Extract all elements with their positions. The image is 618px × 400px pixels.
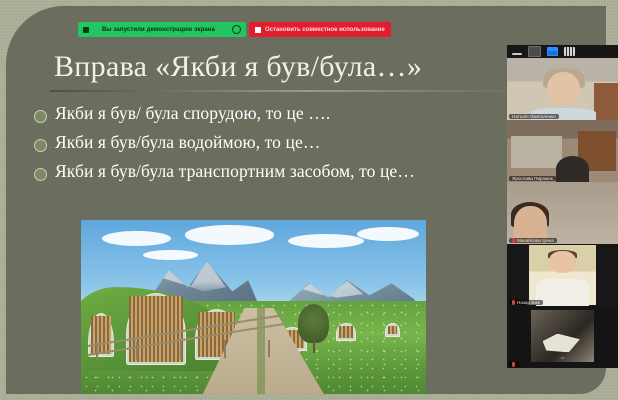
participant-name: Михайлова Ірина: [517, 238, 554, 243]
mic-muted-icon: [512, 300, 515, 305]
gallery-view-icon[interactable]: [547, 47, 558, 56]
stop-square-icon: [255, 27, 261, 33]
hobbit-door: [385, 323, 401, 337]
microphone-icon: [83, 27, 89, 33]
speaker-view-icon[interactable]: [528, 46, 541, 57]
cloud: [102, 231, 171, 247]
bullet-text: Якби я був/була транспортним засобом, то…: [55, 160, 415, 183]
bullet-ring-icon: [34, 168, 47, 181]
participant-name: Ярослава Пирожок: [512, 176, 553, 181]
stop-share-label: Остановить совместное использование: [265, 27, 385, 33]
participant-tile[interactable]: Михайлова Ірина: [507, 182, 618, 244]
participant-name: Назар Бзів: [517, 300, 540, 305]
chevron-down-icon[interactable]: ⌄: [507, 352, 618, 361]
mic-muted-icon: [512, 238, 515, 243]
settings-ring-icon[interactable]: [232, 25, 241, 34]
participant-name-badge: Назар Бзів: [509, 300, 543, 305]
slide-title: Вправа «Якби я був/була…»: [54, 50, 524, 84]
list-item: Якби я був/була транспортним засобом, то…: [34, 160, 514, 183]
tree: [298, 304, 329, 343]
bullet-text: Якби я був/була водоймою, то це…: [55, 131, 320, 154]
participant-name-badge: Михайлова Ірина: [509, 238, 557, 243]
list-item: Якби я був/ була спорудою, то це ….: [34, 102, 514, 125]
participant-tile[interactable]: Наталія Омельченко: [507, 58, 618, 120]
hobbit-door: [336, 323, 355, 341]
list-item: Якби я був/була водоймою, то це…: [34, 131, 514, 154]
zoom-view-toolbar: [507, 45, 618, 58]
mic-muted-icon: [512, 362, 515, 367]
participant-name-badge: Ярослава Пирожок: [509, 176, 556, 181]
zoom-participants-panel: Наталія Омельченко Ярослава Пирожок Миха…: [507, 45, 618, 365]
slide-image: [81, 220, 426, 394]
bullet-ring-icon: [34, 110, 47, 123]
title-divider: [50, 90, 520, 92]
participant-tile[interactable]: Назар Бзів: [507, 244, 618, 306]
screen-share-toolbar: Вы запустили демонстрацию экрана Останов…: [78, 22, 391, 37]
participant-name: Наталія Омельченко: [512, 114, 556, 119]
minimize-icon[interactable]: [512, 53, 522, 55]
share-status-pill[interactable]: Вы запустили демонстрацию экрана: [78, 22, 246, 37]
cloud: [288, 234, 364, 248]
participant-name-badge: [509, 362, 520, 367]
cloud: [185, 225, 275, 244]
bullet-ring-icon: [34, 139, 47, 152]
screen-share-view: Вправа «Якби я був/була…» Якби я був/ бу…: [0, 0, 618, 400]
participant-name-badge: Наталія Омельченко: [509, 114, 559, 119]
bullet-text: Якби я був/ була спорудою, то це ….: [55, 102, 330, 125]
cloud: [357, 227, 419, 241]
grid-view-icon[interactable]: [564, 47, 575, 56]
stop-share-button[interactable]: Остановить совместное использование: [249, 22, 391, 37]
bullet-list: Якби я був/ була спорудою, то це …. Якби…: [34, 102, 514, 189]
wooden-fence: [88, 339, 288, 367]
share-status-label: Вы запустили демонстрацию экрана: [92, 27, 229, 33]
participant-tile[interactable]: Ярослава Пирожок: [507, 120, 618, 182]
